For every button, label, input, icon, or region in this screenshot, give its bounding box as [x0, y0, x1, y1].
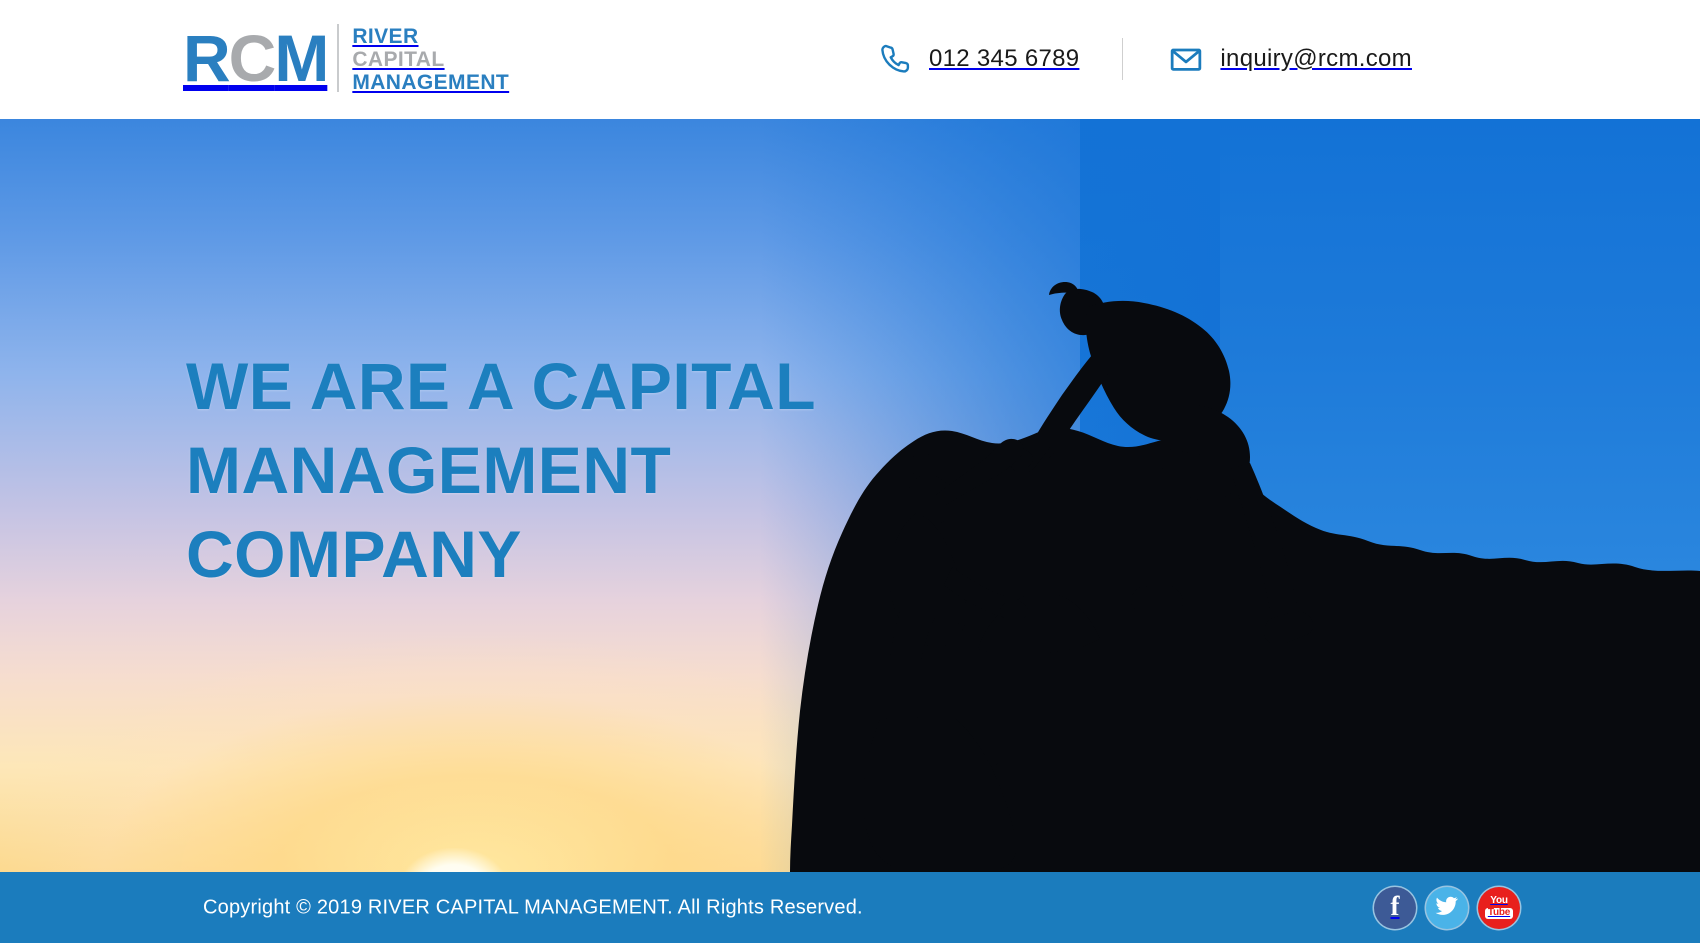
email-contact[interactable]: inquiry@rcm.com	[1166, 36, 1412, 82]
logo-word-capital: CAPITAL	[352, 48, 509, 71]
phone-number: 012 345 6789	[929, 45, 1079, 73]
phone-contact[interactable]: 012 345 6789	[875, 36, 1079, 82]
logo-letter-r: R	[183, 21, 229, 95]
twitter-link[interactable]	[1426, 887, 1468, 929]
site-header: RCM RIVER CAPITAL MANAGEMENT 012 345 678…	[0, 0, 1700, 119]
contact-separator	[1122, 38, 1123, 80]
logo-divider	[337, 24, 339, 92]
logo-letter-m: M	[274, 21, 327, 95]
logo-letter-c: C	[229, 21, 275, 95]
logo-word-river: RIVER	[352, 25, 509, 48]
phone-icon	[875, 39, 915, 79]
hero-banner: WE ARE A CAPITAL MANAGEMENT COMPANY	[0, 119, 1700, 872]
facebook-icon: f	[1391, 893, 1400, 920]
site-footer: Copyright © 2019 RIVER CAPITAL MANAGEMEN…	[0, 872, 1700, 943]
email-address: inquiry@rcm.com	[1220, 45, 1412, 73]
youtube-label-top: You	[1490, 896, 1508, 906]
facebook-link[interactable]: f	[1374, 887, 1416, 929]
logo-wordmark: RIVER CAPITAL MANAGEMENT	[352, 22, 509, 94]
envelope-icon	[1166, 39, 1206, 79]
logo-word-management: MANAGEMENT	[352, 71, 509, 94]
twitter-icon	[1435, 893, 1459, 922]
hero-headline: WE ARE A CAPITAL MANAGEMENT COMPANY	[186, 344, 886, 596]
site-logo[interactable]: RCM RIVER CAPITAL MANAGEMENT	[183, 22, 509, 94]
youtube-icon: You Tube	[1485, 896, 1513, 919]
social-links: f You Tube	[1374, 887, 1520, 929]
copyright-text: Copyright © 2019 RIVER CAPITAL MANAGEMEN…	[203, 896, 863, 919]
header-contact-info: 012 345 6789 inquiry@rcm.com	[875, 36, 1412, 82]
landing-page: RCM RIVER CAPITAL MANAGEMENT 012 345 678…	[0, 0, 1700, 943]
logo-monogram: RCM	[183, 22, 327, 94]
youtube-label-bottom: Tube	[1485, 908, 1513, 919]
youtube-link[interactable]: You Tube	[1478, 887, 1520, 929]
